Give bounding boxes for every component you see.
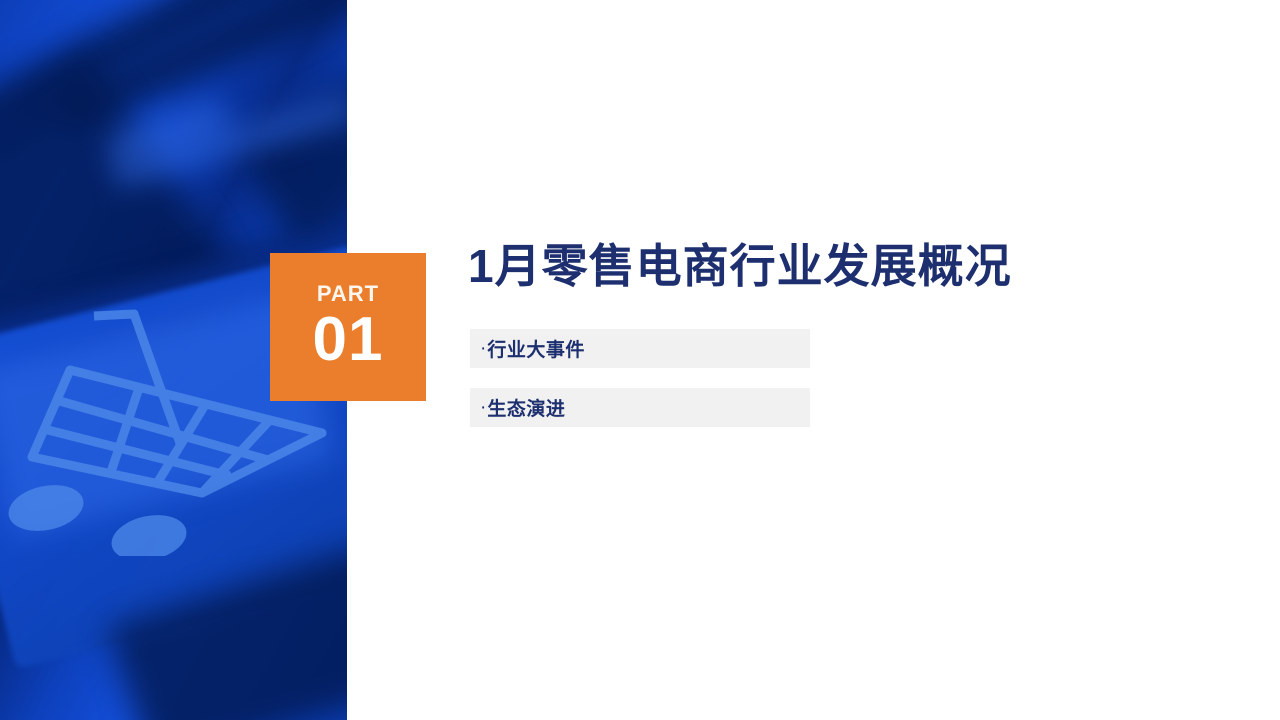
slide-canvas: PART 01 1月零售电商行业发展概况 · 行业大事件 · 生态演进 xyxy=(0,0,1280,720)
bullet-icon: · xyxy=(480,339,486,358)
list-item[interactable]: · 生态演进 xyxy=(470,388,810,427)
list-item-label: 生态演进 xyxy=(487,394,565,421)
section-content: 1月零售电商行业发展概况 · 行业大事件 · 生态演进 xyxy=(470,240,1170,447)
part-number: 01 xyxy=(313,309,384,371)
list-item-label: 行业大事件 xyxy=(487,335,585,362)
topic-list: · 行业大事件 · 生态演进 xyxy=(470,329,1170,427)
list-item[interactable]: · 行业大事件 xyxy=(470,329,810,368)
bullet-icon: · xyxy=(480,398,486,417)
page-title: 1月零售电商行业发展概况 xyxy=(468,240,1170,293)
part-label: PART xyxy=(317,283,379,305)
section-number-badge: PART 01 xyxy=(270,253,426,401)
